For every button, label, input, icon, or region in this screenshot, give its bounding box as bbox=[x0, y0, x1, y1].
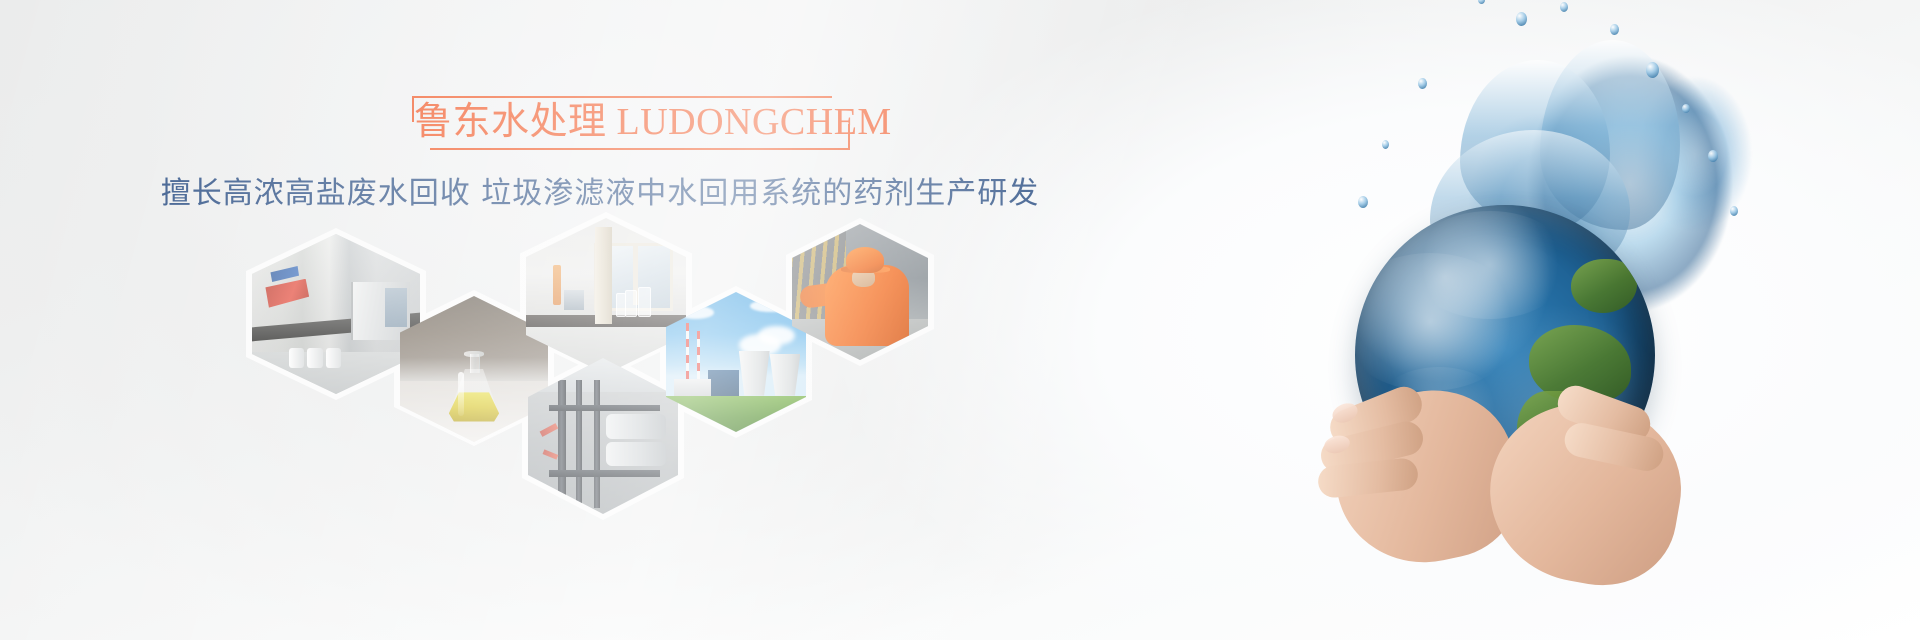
glassware bbox=[616, 293, 626, 317]
red-valve-handle bbox=[543, 449, 559, 459]
flask-highlight bbox=[458, 372, 464, 416]
safety-helmet bbox=[846, 247, 884, 273]
cooling-tower bbox=[739, 351, 770, 396]
water-droplet bbox=[1418, 78, 1427, 89]
lab-instrument bbox=[564, 290, 583, 310]
brand-title-wrap: 鲁东水处理 LUDONGCHEM bbox=[0, 96, 1200, 152]
water-droplet bbox=[1560, 2, 1568, 12]
horizontal-pipe bbox=[549, 405, 660, 411]
chemical-drum bbox=[326, 348, 341, 369]
brand-title-frame: 鲁东水处理 LUDONGCHEM bbox=[400, 96, 832, 150]
membrane-vessel bbox=[606, 442, 666, 465]
vertical-pipe bbox=[594, 380, 600, 508]
cooling-tower bbox=[770, 354, 801, 396]
water-droplet bbox=[1478, 0, 1485, 4]
vertical-pipe bbox=[558, 380, 566, 508]
wall-slogan-blue bbox=[270, 266, 299, 282]
water-droplet bbox=[1646, 62, 1659, 78]
water-droplet bbox=[1516, 12, 1527, 26]
stand-rod bbox=[553, 265, 561, 306]
water-droplet bbox=[1610, 24, 1619, 35]
vertical-pipe bbox=[576, 380, 582, 508]
steam-plume bbox=[758, 326, 794, 346]
plant-building bbox=[674, 379, 710, 396]
globe-foam bbox=[1409, 211, 1571, 319]
red-valve-handle bbox=[540, 423, 559, 437]
plant-building bbox=[708, 370, 739, 395]
water-droplet bbox=[1708, 150, 1718, 162]
chemical-drum bbox=[307, 348, 322, 369]
water-globe-artwork bbox=[1160, 0, 1920, 640]
banner-subtitle: 擅长高浓高盐废水回收 垃圾渗滤液中水回用系统的药剂生产研发 bbox=[0, 172, 1200, 216]
lab-column bbox=[595, 227, 613, 324]
glassware bbox=[625, 290, 637, 317]
headline-block: 鲁东水处理 LUDONGCHEM 擅长高浓高盐废水回收 垃圾渗滤液中水回用系统的… bbox=[0, 96, 1200, 152]
landmass-europe bbox=[1571, 259, 1637, 313]
water-droplet bbox=[1682, 104, 1690, 113]
water-droplet bbox=[1730, 206, 1738, 216]
glassware bbox=[638, 287, 651, 317]
water-droplet bbox=[1382, 140, 1389, 149]
horizontal-pipe bbox=[549, 470, 660, 476]
chemical-drum bbox=[289, 348, 304, 369]
lab-panel bbox=[385, 288, 407, 326]
water-droplet bbox=[1358, 196, 1368, 208]
wall-slogan-red bbox=[265, 279, 309, 308]
membrane-vessel bbox=[606, 414, 666, 439]
brand-title: 鲁东水处理 LUDONGCHEM bbox=[414, 95, 892, 149]
hero-banner: 鲁东水处理 LUDONGCHEM 擅长高浓高盐废水回收 垃圾渗滤液中水回用系统的… bbox=[0, 0, 1920, 640]
green-field bbox=[666, 396, 806, 432]
